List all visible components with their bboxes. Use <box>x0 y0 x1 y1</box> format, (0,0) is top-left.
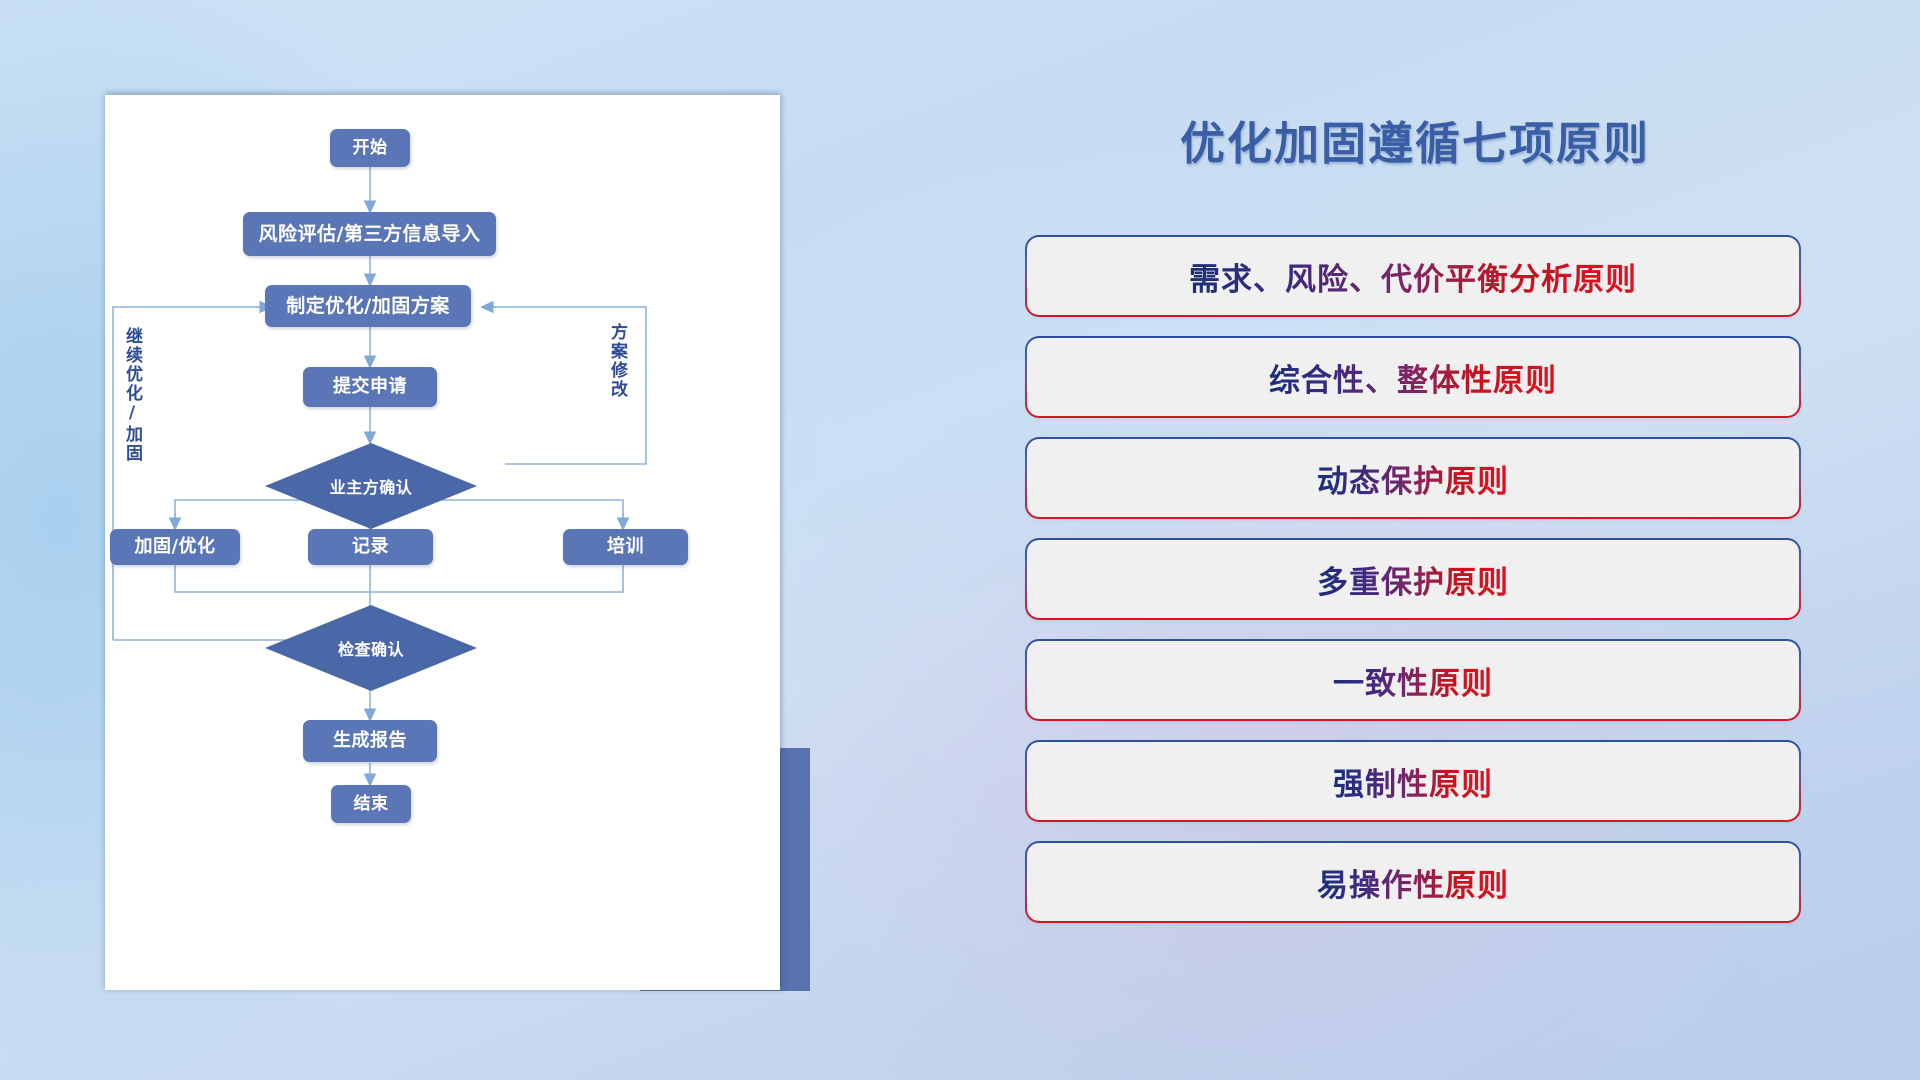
slide-canvas: 开始 风险评估/第三方信息导入 制定优化/加固方案 提交申请 业主方确认 加固/… <box>0 0 1920 1080</box>
flow-node-label: 结束 <box>354 795 389 814</box>
principle-label: 需求、风险、代价平衡分析原则 <box>1189 254 1637 299</box>
flow-node-label: 制定优化/加固方案 <box>286 296 449 317</box>
flow-node-record[interactable]: 记录 <box>308 529 433 565</box>
flow-edge-label-plan-revision: 方案修改 <box>608 323 625 399</box>
flow-node-label: 加固/优化 <box>134 537 215 557</box>
flow-node-label: 开始 <box>353 139 388 158</box>
flow-node-label: 生成报告 <box>333 731 407 751</box>
principle-card[interactable]: 综合性、整体性原则 <box>1027 338 1799 416</box>
flow-node-submit-application[interactable]: 提交申请 <box>303 367 437 407</box>
flow-node-label: 风险评估/第三方信息导入 <box>259 224 481 245</box>
principle-label: 易操作性原则 <box>1317 860 1509 905</box>
flow-node-training[interactable]: 培训 <box>563 529 688 565</box>
flow-node-label: 提交申请 <box>333 377 407 397</box>
principle-label: 多重保护原则 <box>1317 557 1509 602</box>
flow-node-label: 记录 <box>352 537 389 557</box>
principle-card[interactable]: 强制性原则 <box>1027 742 1799 820</box>
flow-node-plan[interactable]: 制定优化/加固方案 <box>265 285 471 327</box>
flow-node-label: 检查确认 <box>338 636 404 660</box>
principle-label: 强制性原则 <box>1333 759 1493 804</box>
principle-card[interactable]: 需求、风险、代价平衡分析原则 <box>1027 237 1799 315</box>
principle-card[interactable]: 多重保护原则 <box>1027 540 1799 618</box>
flow-node-generate-report[interactable]: 生成报告 <box>303 720 437 762</box>
flow-edge-label-continue-optimize: 继续优化/加固 <box>123 327 140 463</box>
flow-node-reinforce[interactable]: 加固/优化 <box>110 529 240 565</box>
principles-title: 优化加固遵循七项原则 <box>1030 107 1800 172</box>
flow-node-label: 培训 <box>607 537 644 557</box>
principle-label: 综合性、整体性原则 <box>1269 355 1557 400</box>
flow-node-start[interactable]: 开始 <box>330 129 410 167</box>
principle-card[interactable]: 易操作性原则 <box>1027 843 1799 921</box>
principles-list: 需求、风险、代价平衡分析原则 综合性、整体性原则 动态保护原则 多重保护原则 一… <box>1027 237 1799 944</box>
principle-label: 一致性原则 <box>1333 658 1493 703</box>
principle-card[interactable]: 一致性原则 <box>1027 641 1799 719</box>
principle-card[interactable]: 动态保护原则 <box>1027 439 1799 517</box>
principle-label: 动态保护原则 <box>1317 456 1509 501</box>
flow-node-risk-assessment[interactable]: 风险评估/第三方信息导入 <box>243 212 496 256</box>
flow-node-label: 业主方确认 <box>330 474 413 498</box>
flowchart-panel: 开始 风险评估/第三方信息导入 制定优化/加固方案 提交申请 业主方确认 加固/… <box>105 95 780 990</box>
flow-node-end[interactable]: 结束 <box>331 785 411 823</box>
